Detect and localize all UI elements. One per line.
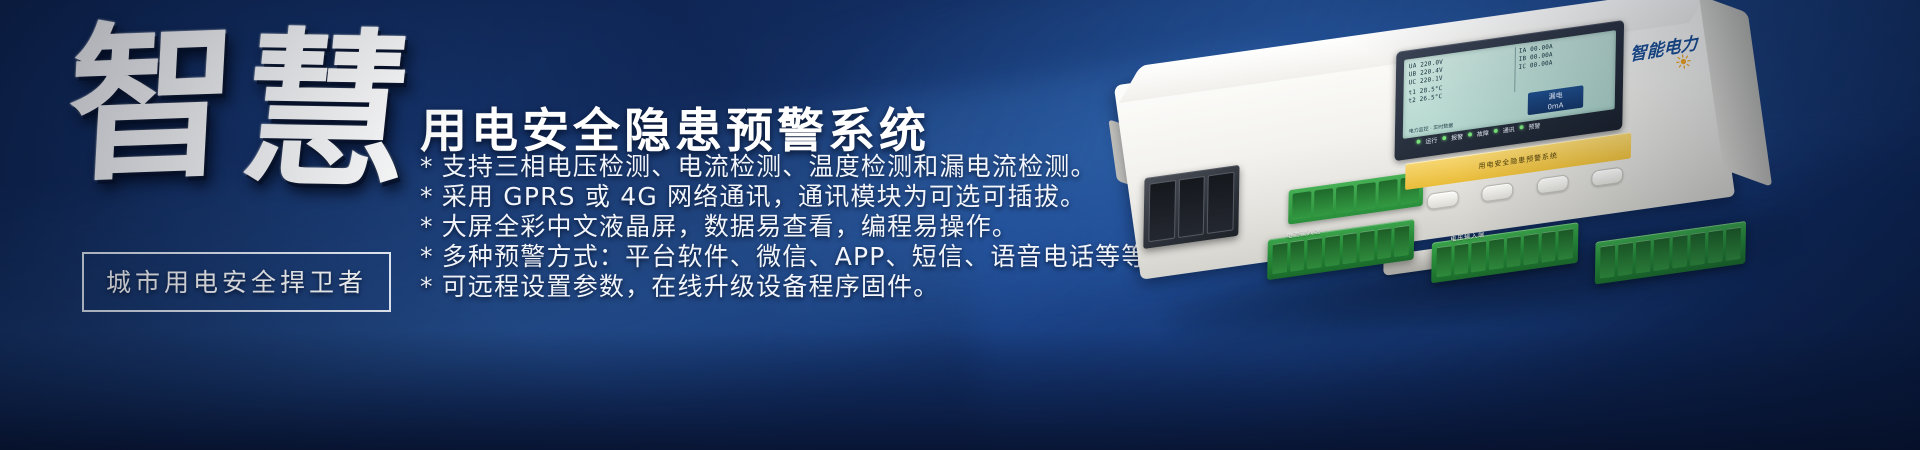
- status-led-icon: [1520, 125, 1524, 130]
- lcd-divider: [1514, 47, 1516, 92]
- bullet-marker-icon: *: [420, 212, 434, 241]
- promo-banner: 智慧 城市用电安全捍卫者 用电安全隐患预警系统 *支持三相电压检测、电流检测、温…: [0, 0, 1920, 450]
- tagline-box: 城市用电安全捍卫者: [82, 252, 391, 312]
- status-led-icon: [1417, 139, 1421, 144]
- status-led-icon: [1442, 136, 1446, 141]
- bullet-marker-icon: *: [420, 152, 434, 181]
- calligraphy-char-2: 慧: [234, 25, 425, 196]
- lcd-leakage-label: 漏电: [1549, 91, 1563, 101]
- list-item: *采用 GPRS 或 4G 网络通讯，通讯模块为可选可插拔。: [420, 182, 1174, 211]
- list-item: *多种预警方式：平台软件、微信、APP、短信、语音电话等等。: [420, 242, 1174, 271]
- indicator-label-warn: 预警: [1528, 120, 1540, 131]
- bullet-marker-icon: *: [420, 272, 434, 301]
- list-item-label: 可远程设置参数，在线升级设备程序固件。: [442, 272, 940, 301]
- list-item-label: 支持三相电压检测、电流检测、温度检测和漏电流检测。: [442, 152, 1097, 181]
- list-item: *大屏全彩中文液晶屏，数据易查看，编程易操作。: [420, 212, 1174, 241]
- list-item: *可远程设置参数，在线升级设备程序固件。: [420, 272, 1174, 301]
- indicator-label-run: 运行: [1425, 135, 1437, 146]
- list-item: *支持三相电压检测、电流检测、温度检测和漏电流检测。: [420, 152, 1174, 181]
- bottom-gradient-overlay: [0, 330, 1920, 450]
- device-button-ok[interactable]: [1592, 166, 1624, 187]
- bullet-marker-icon: *: [420, 182, 434, 211]
- list-item-label: 大屏全彩中文液晶屏，数据易查看，编程易操作。: [442, 212, 1018, 241]
- feature-list: *支持三相电压检测、电流检测、温度检测和漏电流检测。 *采用 GPRS 或 4G…: [420, 152, 1174, 302]
- page-title: 用电安全隐患预警系统: [420, 92, 930, 161]
- device-button-set[interactable]: [1427, 190, 1459, 211]
- device-button-up[interactable]: [1482, 182, 1514, 203]
- bullet-marker-icon: *: [420, 242, 434, 271]
- indicator-label-comm: 通讯: [1503, 124, 1515, 135]
- sun-burst-icon: [1675, 53, 1692, 70]
- calligraphy-title: 智慧: [59, 10, 413, 277]
- status-led-icon: [1468, 132, 1472, 137]
- status-led-icon: [1494, 129, 1498, 134]
- product-device-image: UA 220.0V UB 220.4V UC 220.1V t1 28.5°C …: [1071, 0, 1920, 396]
- lcd-leakage-value: 0mA: [1547, 101, 1563, 111]
- calligraphy-char-1: 智: [63, 1, 248, 205]
- indicator-label-alarm: 报警: [1451, 131, 1463, 142]
- list-item-label: 采用 GPRS 或 4G 网络通讯，通讯模块为可选可插拔。: [442, 182, 1087, 211]
- device-button-down[interactable]: [1537, 174, 1569, 195]
- list-item-label: 多种预警方式：平台软件、微信、APP、短信、语音电话等等。: [442, 242, 1174, 271]
- indicator-label-fault: 故障: [1477, 127, 1489, 138]
- communication-module-connector: [1143, 165, 1239, 249]
